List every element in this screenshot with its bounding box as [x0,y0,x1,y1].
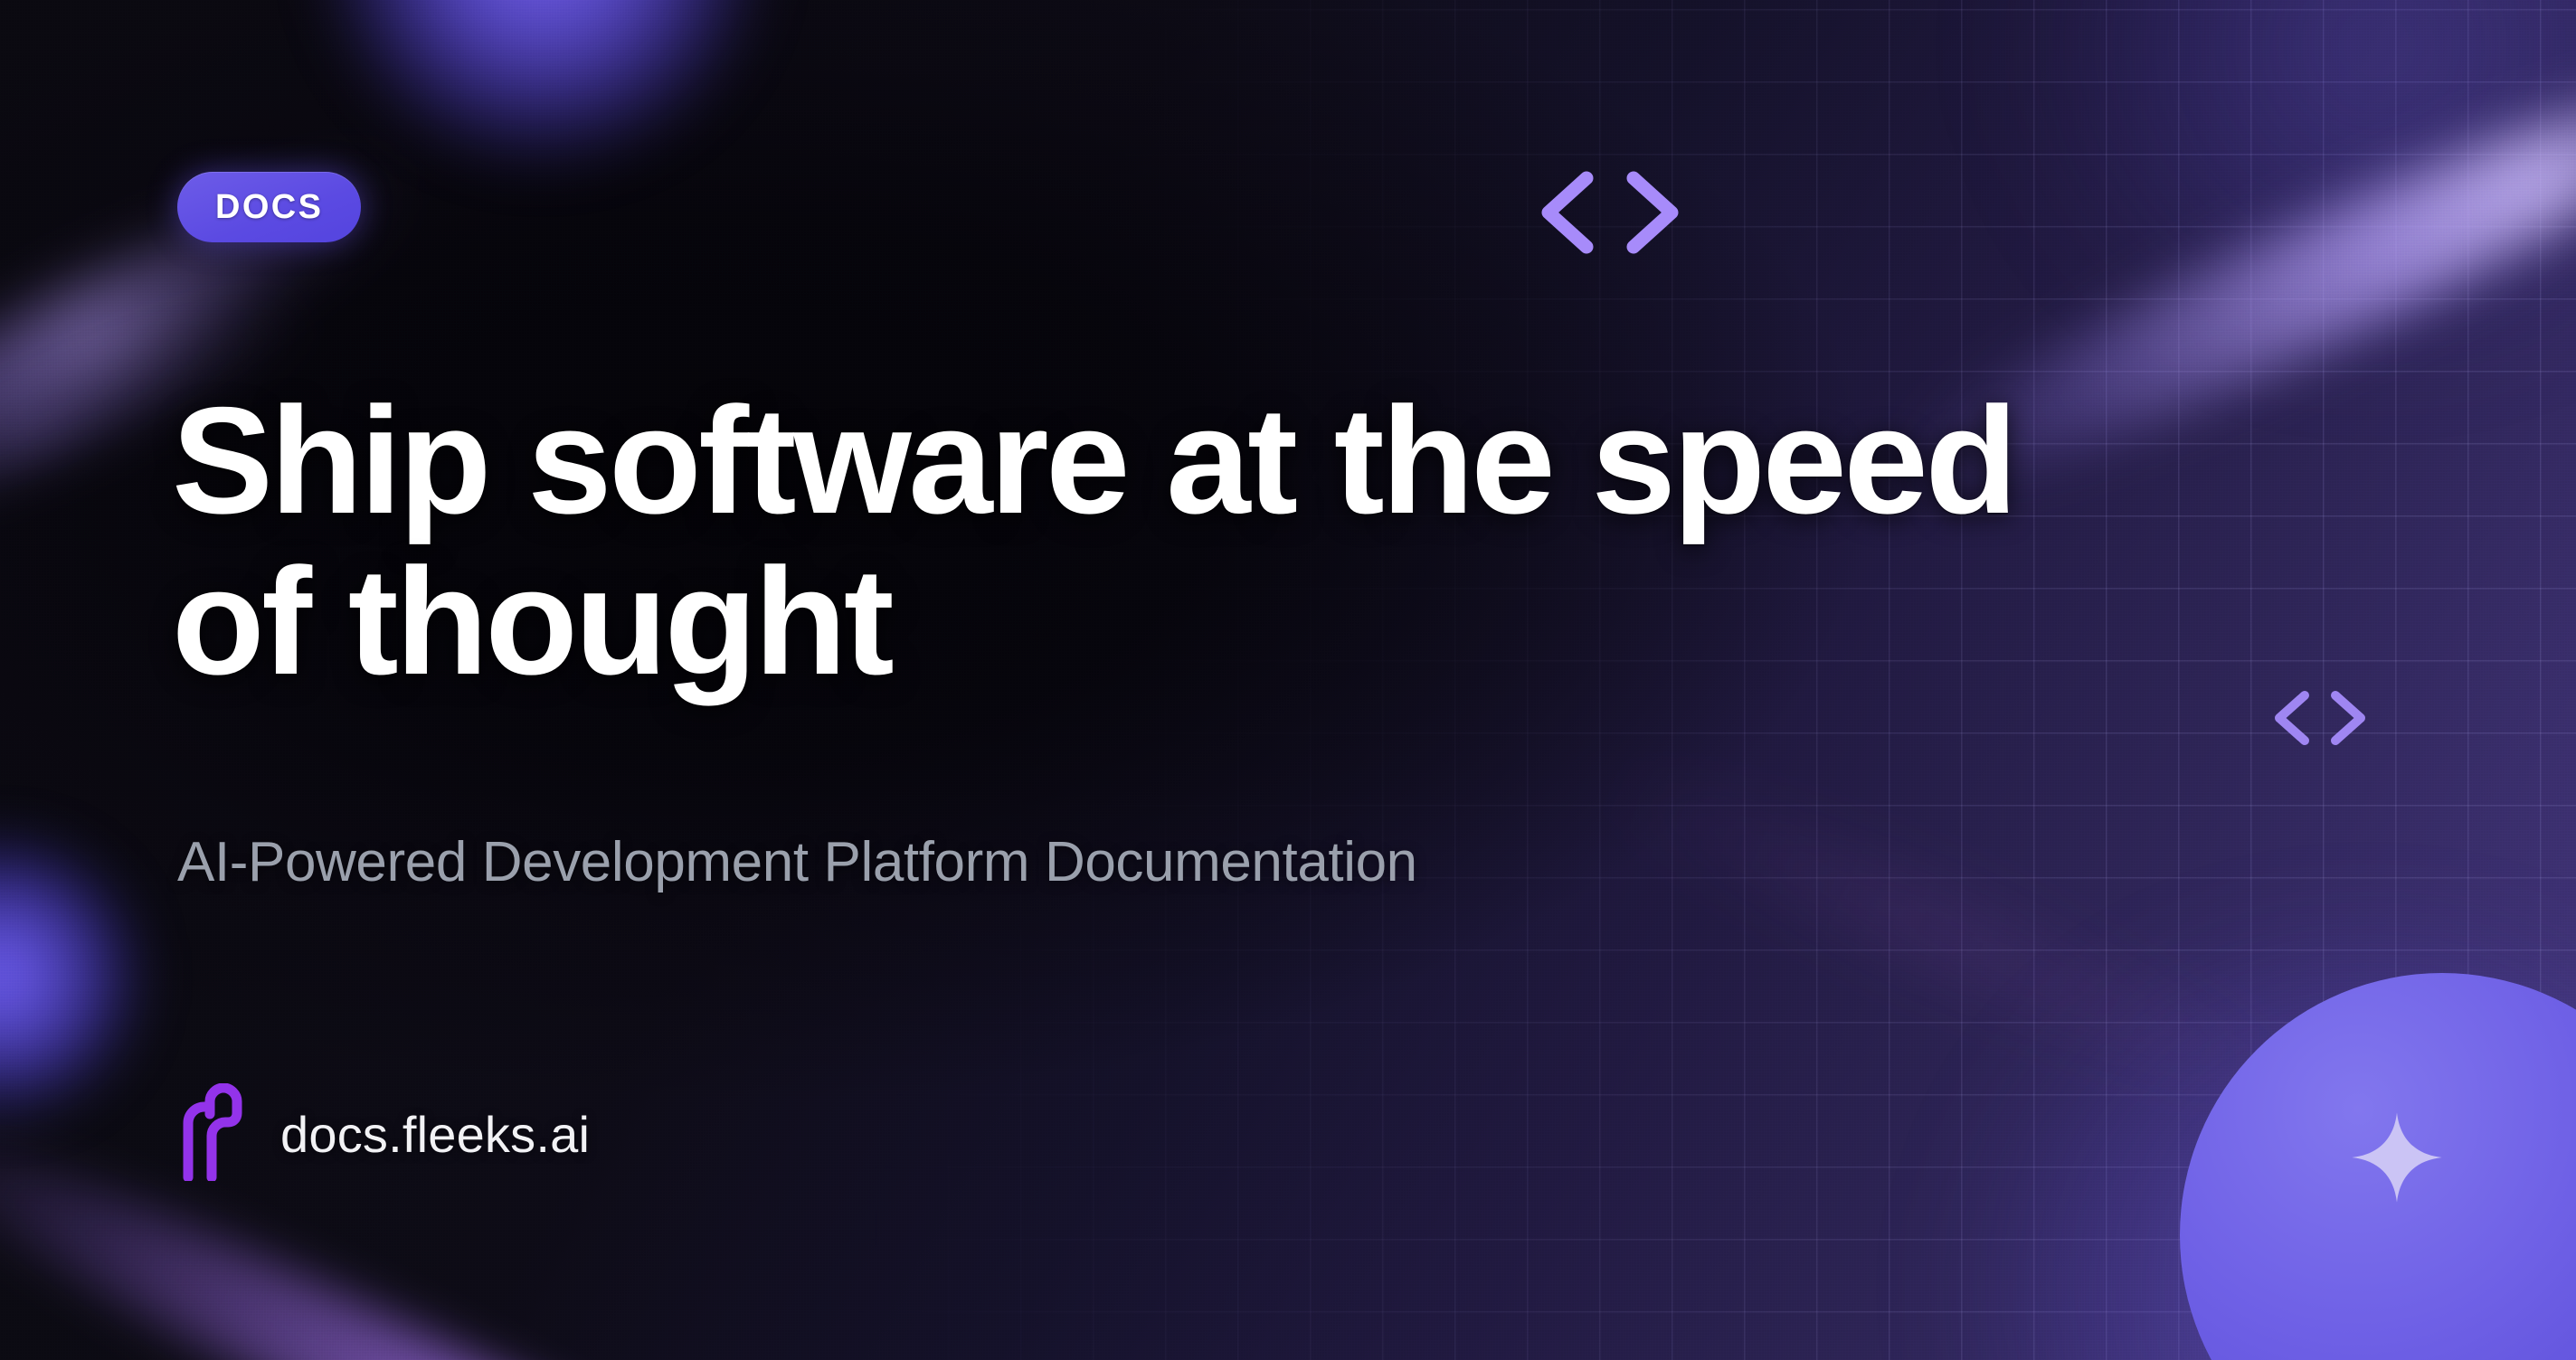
hero-content: DOCS Ship software at the speed of thoug… [177,0,2258,1360]
brand-url-row[interactable]: docs.fleeks.ai [177,1083,590,1185]
docs-url[interactable]: docs.fleeks.ai [280,1105,590,1164]
sparkle-icon [2348,1109,2446,1211]
hero-banner: DOCS Ship software at the speed of thoug… [0,0,2576,1360]
page-title: Ship software at the speed of thought [172,380,2089,702]
docs-badge[interactable]: DOCS [177,172,361,242]
fleeks-logo-icon [177,1083,246,1185]
page-subtitle: AI-Powered Development Platform Document… [177,830,1417,894]
